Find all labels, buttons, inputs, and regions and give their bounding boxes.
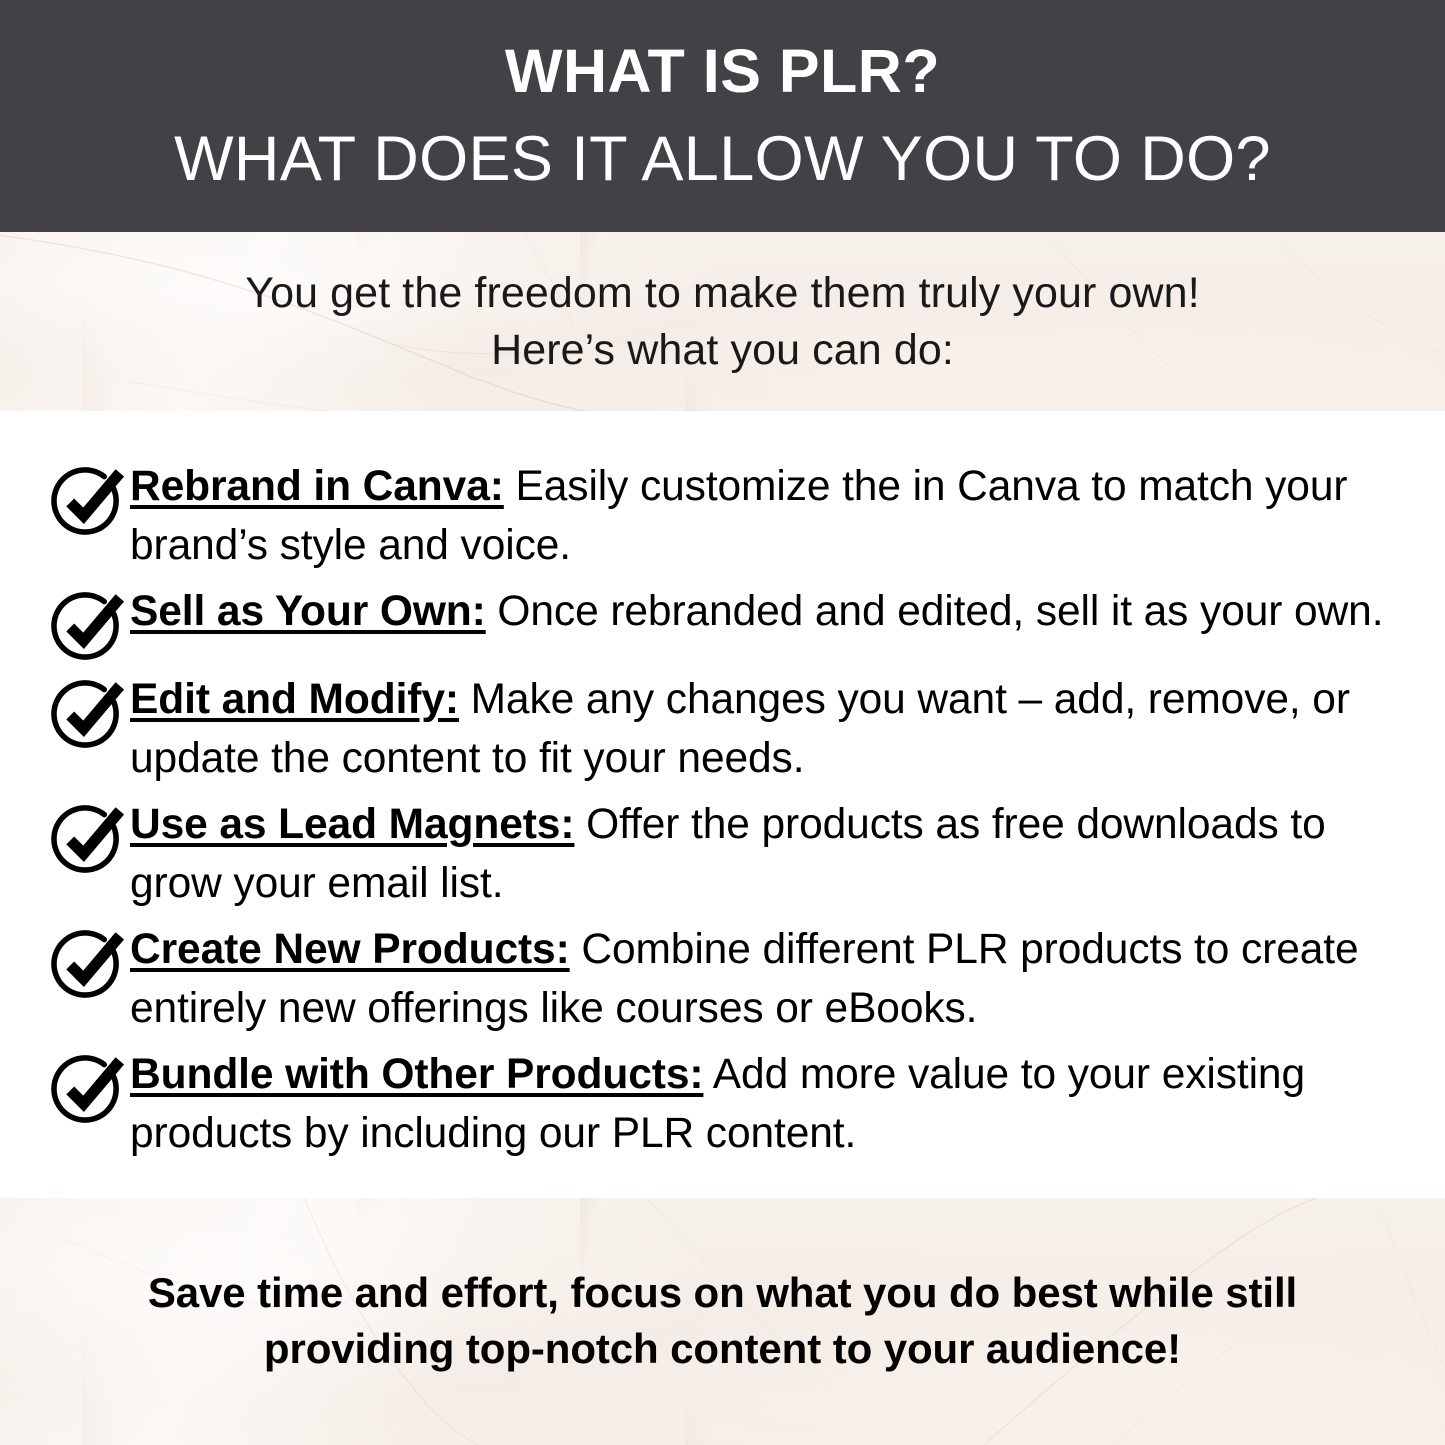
check-circle-icon	[46, 926, 130, 1002]
list-item-text: Use as Lead Magnets: Offer the products …	[130, 793, 1393, 914]
footer-line-2: providing top-notch content to your audi…	[148, 1321, 1297, 1377]
intro-band: You get the freedom to make them truly y…	[0, 232, 1445, 410]
list-item-lead: Create New Products:	[130, 926, 570, 973]
list-item-text: Rebrand in Canva: Easily customize the i…	[130, 455, 1393, 576]
check-circle-icon	[46, 1051, 130, 1127]
list-item-body: Once rebranded and edited, sell it as yo…	[486, 588, 1384, 635]
header-banner: WHAT IS PLR? WHAT DOES IT ALLOW YOU TO D…	[0, 0, 1445, 232]
list-item-text: Edit and Modify: Make any changes you wa…	[130, 668, 1393, 789]
list-item-text: Create New Products: Combine different P…	[130, 918, 1393, 1039]
list-item-text: Sell as Your Own: Once rebranded and edi…	[130, 580, 1393, 642]
list-item-lead: Rebrand in Canva:	[130, 463, 504, 510]
check-circle-icon	[46, 676, 130, 752]
footer-banner: Save time and effort, focus on what you …	[0, 1198, 1445, 1445]
check-circle-icon	[46, 588, 130, 664]
footer-message: Save time and effort, focus on what you …	[148, 1265, 1297, 1378]
intro-line-1: You get the freedom to make them truly y…	[245, 265, 1200, 322]
list-item: Create New Products: Combine different P…	[46, 918, 1393, 1039]
footer-line-1: Save time and effort, focus on what you …	[148, 1265, 1297, 1321]
list-item: Sell as Your Own: Once rebranded and edi…	[46, 580, 1393, 664]
page-title: WHAT IS PLR?	[505, 39, 940, 103]
list-item: Use as Lead Magnets: Offer the products …	[46, 793, 1393, 914]
check-circle-icon	[46, 801, 130, 877]
plr-info-card: WHAT IS PLR? WHAT DOES IT ALLOW YOU TO D…	[0, 0, 1445, 1445]
page-subtitle: WHAT DOES IT ALLOW YOU TO DO?	[174, 119, 1271, 200]
intro-line-2: Here’s what you can do:	[491, 322, 954, 379]
list-item: Edit and Modify: Make any changes you wa…	[46, 668, 1393, 789]
list-item-lead: Edit and Modify:	[130, 676, 459, 723]
check-circle-icon	[46, 463, 130, 539]
list-item-lead: Bundle with Other Products:	[130, 1051, 703, 1098]
list-item-lead: Sell as Your Own:	[130, 588, 486, 635]
benefits-section: Rebrand in Canva: Easily customize the i…	[0, 411, 1445, 1198]
list-item: Rebrand in Canva: Easily customize the i…	[46, 455, 1393, 576]
list-item-text: Bundle with Other Products: Add more val…	[130, 1043, 1393, 1164]
benefits-list: Rebrand in Canva: Easily customize the i…	[46, 455, 1393, 1164]
list-item: Bundle with Other Products: Add more val…	[46, 1043, 1393, 1164]
list-item-lead: Use as Lead Magnets:	[130, 801, 574, 848]
